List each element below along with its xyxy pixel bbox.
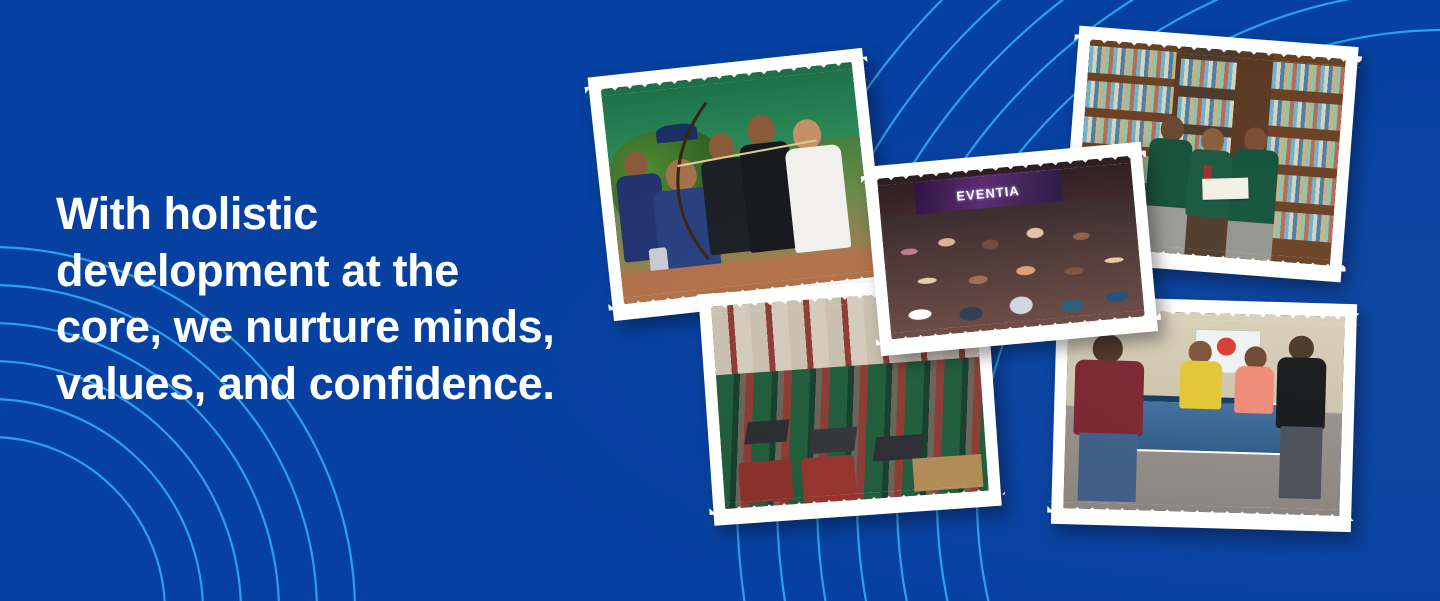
red-chair: [801, 455, 857, 503]
eventia-photo-frame: EVENTIA: [877, 156, 1145, 339]
player-head: [1092, 334, 1123, 363]
eventia-banner-text: EVENTIA: [956, 183, 1020, 204]
table-tennis-scene: [1063, 309, 1344, 516]
archery-photo-frame: [601, 62, 875, 304]
player-salmon-shirt: [1234, 366, 1274, 415]
open-book: [1202, 178, 1249, 200]
laptop: [745, 419, 790, 445]
holistic-development-hero-banner: With holistic development at the core, w…: [0, 0, 1440, 601]
player-trousers: [1279, 427, 1322, 500]
red-chair: [738, 460, 793, 504]
student-trousers: [1225, 220, 1274, 261]
collage-photo-archery: [588, 48, 889, 321]
laptop: [809, 426, 857, 454]
laptop: [873, 434, 924, 462]
player-maroon-shirt: [1074, 359, 1145, 437]
player-jeans: [1077, 433, 1137, 502]
archery-scene: [601, 62, 875, 304]
collage-photo-eventia: EVENTIA: [864, 142, 1158, 356]
wooden-desk: [912, 454, 983, 491]
table-tennis-photo-frame: [1063, 309, 1344, 516]
player-head: [1288, 335, 1313, 360]
eventia-scene: EVENTIA: [877, 156, 1145, 339]
player-black-shirt: [1275, 357, 1327, 430]
photo-collage: EVENTIA: [0, 0, 1440, 601]
player-head: [1244, 346, 1267, 368]
player-head: [1189, 340, 1212, 362]
player-yellow-shirt: [1179, 360, 1222, 409]
crowd-of-students: [881, 194, 1145, 339]
